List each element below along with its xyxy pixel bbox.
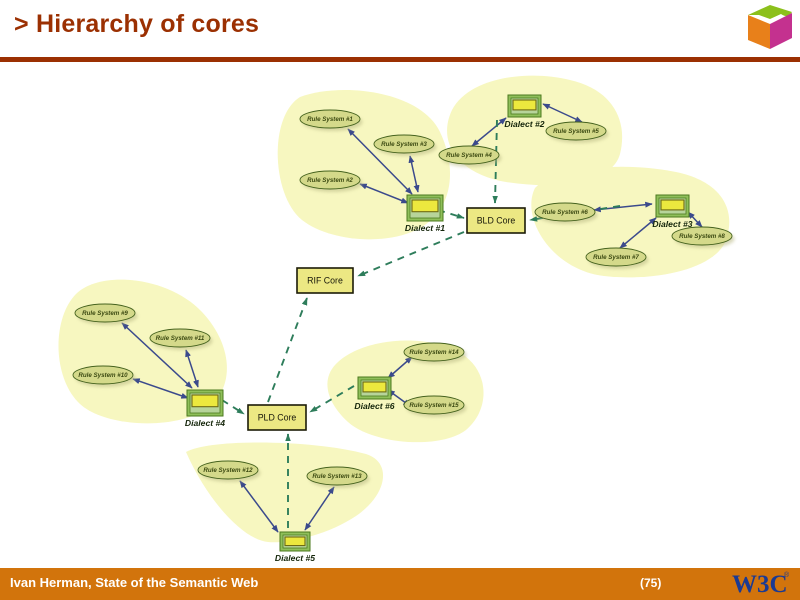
dialect-label: Dialect #1 [405,223,445,233]
rule-system-label: Rule System #2 [307,177,353,184]
page-number: (75) [640,576,661,590]
footer-author: Ivan Herman, State of the Semantic Web [10,575,258,590]
rule-system-label: Rule System #4 [446,152,492,159]
dialect-node[interactable]: Dialect #2 [504,95,544,129]
rule-system-label: Rule System #12 [203,467,253,474]
dialect-label: Dialect #2 [504,119,544,129]
core-label: RIF Core [307,275,343,285]
core-node[interactable]: PLD Core [248,405,306,430]
dialect-label: Dialect #3 [652,219,692,229]
dialect-label: Dialect #5 [275,553,315,563]
rule-system-label: Rule System #15 [409,402,459,409]
page-title: > Hierarchy of cores [14,10,259,39]
rule-system-label: Rule System #6 [542,209,588,216]
dialect-node[interactable]: Dialect #3 [652,195,692,229]
core-label: BLD Core [477,215,516,225]
hierarchy-of-cores-diagram: Rule System #1Rule System #2Rule System … [0,62,800,568]
slide-header: > Hierarchy of cores [0,0,800,57]
dialect-node[interactable]: Dialect #4 [185,390,225,428]
dialect-node[interactable]: Dialect #6 [354,377,394,411]
link-dialect4-pld [222,400,244,414]
rule-system-label: Rule System #5 [553,128,599,135]
rule-system-label: Rule System #13 [312,473,362,480]
slide-footer: Ivan Herman, State of the Semantic Web (… [0,568,800,600]
dialect-node[interactable]: Dialect #5 [275,532,315,563]
core-node[interactable]: BLD Core [467,208,525,233]
rule-system-label: Rule System #10 [78,372,128,379]
dialect-node[interactable]: Dialect #1 [405,195,445,233]
core-node[interactable]: RIF Core [297,268,353,293]
rule-system-label: Rule System #3 [381,141,427,148]
rule-system-label: Rule System #11 [156,335,205,342]
rule-system-label: Rule System #14 [409,349,459,356]
core-label: PLD Core [258,412,297,422]
w3c-wordmark-text: W3C [732,571,788,598]
rule-system-label: Rule System #7 [593,254,639,261]
w3c-cube-logo [744,2,796,52]
rule-system-label: Rule System #9 [82,310,128,317]
rule-system-label: Rule System #1 [307,116,353,123]
slide: > Hierarchy of cores [0,0,800,600]
rule-system-label: Rule System #8 [679,233,725,240]
dialect-label: Dialect #4 [185,418,225,428]
w3c-wordmark-logo: W3C ® [728,566,798,600]
link-pld-rif [268,298,307,402]
dialect-label: Dialect #6 [354,401,394,411]
w3c-registered-mark: ® [784,571,790,579]
cluster-dialect-5-blob [186,442,383,542]
